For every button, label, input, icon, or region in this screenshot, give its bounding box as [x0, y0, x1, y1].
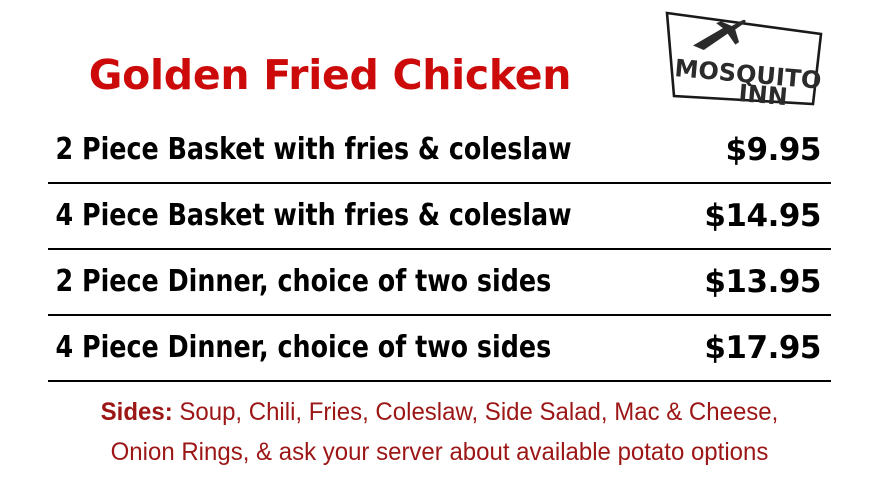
menu-item-price: $13.95	[704, 265, 831, 299]
page-title: Golden Fried Chicken	[0, 53, 660, 97]
logo-name-secondary: INN	[737, 79, 788, 111]
menu-header: Golden Fried Chicken MOSQUITO INN	[0, 0, 879, 118]
sides-label: Sides:	[101, 398, 173, 426]
menu-item-name: 2 Piece Dinner, choice of two sides	[48, 265, 551, 299]
sides-note: Sides: Soup, Chili, Fries, Coleslaw, Sid…	[0, 392, 879, 472]
restaurant-logo: MOSQUITO INN	[658, 4, 828, 112]
menu-row: 4 Piece Basket with fries & coleslaw $14…	[48, 184, 831, 250]
menu-item-price: $17.95	[704, 331, 831, 365]
sides-items-line-2: Onion Rings, & ask your server about ava…	[18, 432, 862, 472]
menu-item-list: 2 Piece Basket with fries & coleslaw $9.…	[0, 118, 879, 382]
menu-board: Golden Fried Chicken MOSQUITO INN 2 Piec…	[0, 0, 879, 479]
menu-item-name: 4 Piece Basket with fries & coleslaw	[48, 199, 572, 233]
menu-row: 2 Piece Dinner, choice of two sides $13.…	[48, 250, 831, 316]
sides-items-line-1: Soup, Chili, Fries, Coleslaw, Side Salad…	[173, 398, 779, 426]
menu-item-name: 2 Piece Basket with fries & coleslaw	[48, 133, 572, 167]
menu-row: 4 Piece Dinner, choice of two sides $17.…	[48, 316, 831, 382]
menu-item-name: 4 Piece Dinner, choice of two sides	[48, 331, 551, 365]
menu-item-price: $14.95	[704, 199, 831, 233]
sides-line-1: Sides: Soup, Chili, Fries, Coleslaw, Sid…	[18, 392, 862, 432]
menu-item-price: $9.95	[725, 133, 831, 167]
menu-row: 2 Piece Basket with fries & coleslaw $9.…	[48, 118, 831, 184]
